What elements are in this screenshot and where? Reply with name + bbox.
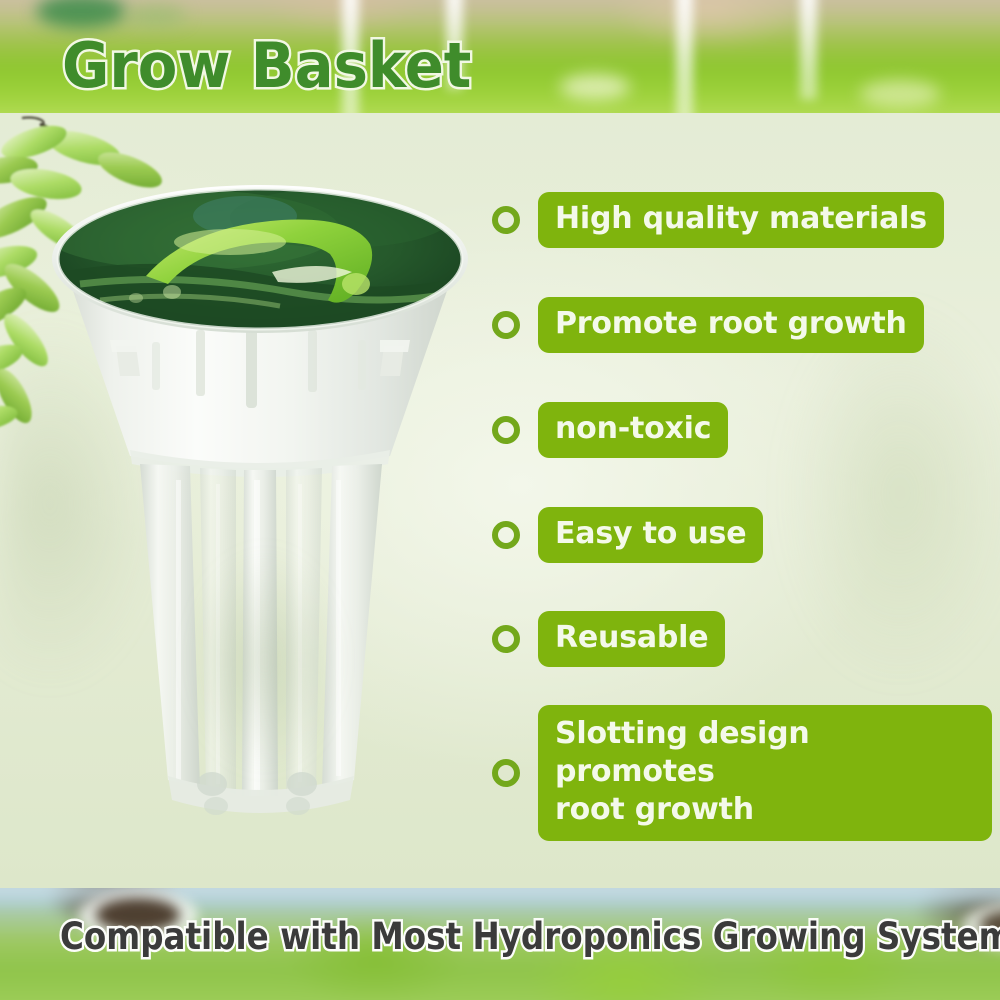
ring-bullet-icon <box>492 625 520 653</box>
footer-caption: Compatible with Most Hydroponics Growing… <box>60 914 940 960</box>
feature-item-5[interactable]: Reusable <box>492 611 725 667</box>
feature-label: Promote root growth <box>538 297 924 353</box>
blurred-foliage-blob <box>126 4 186 26</box>
ring-bullet-icon <box>492 311 520 339</box>
greenhouse-post <box>676 0 693 118</box>
ring-bullet-icon <box>492 759 520 787</box>
footer-banner: Compatible with Most Hydroponics Growing… <box>0 888 1000 1000</box>
feature-item-1[interactable]: High quality materials <box>492 192 944 248</box>
grow-basket-product-image <box>40 180 480 830</box>
feature-label: Reusable <box>538 611 725 667</box>
ring-bullet-icon <box>492 416 520 444</box>
feature-item-3[interactable]: non-toxic <box>492 402 728 458</box>
feature-label: non-toxic <box>538 402 728 458</box>
product-poster: Grow Basket <box>0 0 1000 1000</box>
greenhouse-post <box>800 0 817 100</box>
feature-label: Easy to use <box>538 507 763 563</box>
ring-bullet-icon <box>492 206 520 234</box>
feature-item-4[interactable]: Easy to use <box>492 507 763 563</box>
blurred-foliage-blob <box>860 80 940 108</box>
feature-item-6[interactable]: Slotting design promotes root growth <box>492 705 992 841</box>
feature-label: High quality materials <box>538 192 944 248</box>
product-shadow <box>160 510 370 810</box>
blurred-foliage-blob <box>560 74 630 100</box>
feature-item-2[interactable]: Promote root growth <box>492 297 924 353</box>
page-title: Grow Basket <box>62 30 471 102</box>
feature-label: Slotting design promotes root growth <box>538 705 992 841</box>
ring-bullet-icon <box>492 521 520 549</box>
